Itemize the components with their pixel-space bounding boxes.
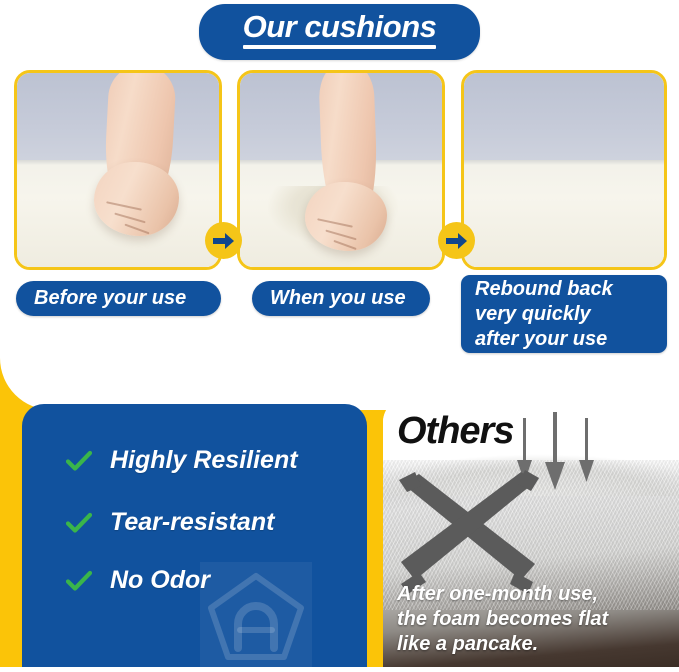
fist: [94, 162, 179, 236]
foam-scene-after: [464, 73, 664, 267]
caption-after-line-1: Rebound back: [475, 277, 667, 302]
others-caption: After one-month use, the foam becomes fl…: [397, 582, 671, 657]
comparison-photo-strip: [0, 70, 679, 270]
check-icon: [66, 512, 92, 534]
benefit-label: No Odor: [110, 566, 210, 595]
caption-before: Before your use: [16, 281, 221, 316]
page-title: Our cushions: [243, 11, 437, 43]
x-cross-brush-icon: [389, 468, 549, 593]
right-arrow-icon: [438, 222, 475, 259]
check-icon: [66, 450, 92, 472]
foam-scene-before: [17, 73, 219, 267]
title-underline: [243, 45, 437, 49]
others-caption-line-3: like a pancake.: [397, 632, 671, 657]
fist: [305, 182, 388, 252]
step-photo-before: [14, 70, 222, 270]
foam-surface-flat: [464, 160, 664, 267]
benefits-card: Highly Resilient Tear-resistant No Odor: [22, 404, 367, 667]
benefit-item-highly-resilient: Highly Resilient: [66, 446, 298, 475]
benefit-item-no-odor: No Odor: [66, 566, 210, 595]
page-title-badge: Our cushions: [199, 4, 481, 60]
others-title: Others: [397, 412, 513, 450]
caption-during: When you use: [252, 281, 430, 316]
others-caption-line-2: the foam becomes flat: [397, 607, 671, 632]
others-card: Others After one-month: [383, 398, 679, 667]
caption-after-line-2: very quickly: [475, 302, 667, 327]
step-photo-during: [237, 70, 445, 270]
benefit-item-tear-resistant: Tear-resistant: [66, 508, 274, 537]
check-icon: [66, 570, 92, 592]
header: Our cushions: [0, 4, 679, 60]
house-pentagon-logo-watermark: [200, 562, 312, 667]
caption-after: Rebound back very quickly after your use: [461, 275, 667, 353]
caption-after-line-3: after your use: [475, 327, 667, 352]
others-caption-line-1: After one-month use,: [397, 582, 671, 607]
right-arrow-icon: [205, 222, 242, 259]
benefit-label: Highly Resilient: [110, 446, 298, 475]
step-photo-after: [461, 70, 667, 270]
backdrop-wall: [464, 73, 664, 164]
benefit-label: Tear-resistant: [110, 508, 274, 537]
foam-scene-during: [240, 73, 442, 267]
